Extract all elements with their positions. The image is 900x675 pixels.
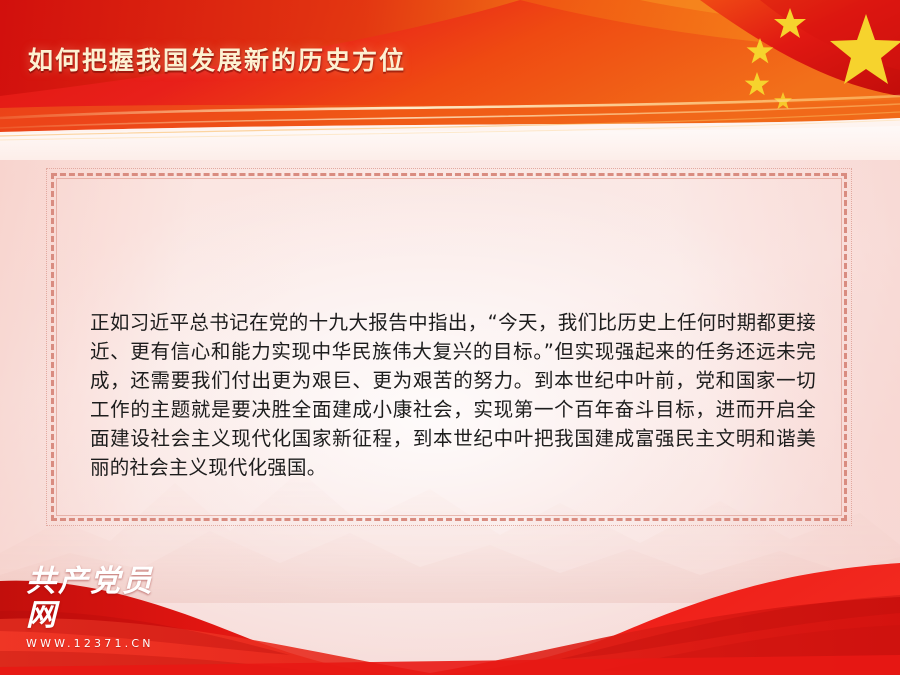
content-panel-border: 正如习近平总书记在党的十九大报告中指出，“今天，我们比历史上任何时期都更接近、更… — [51, 173, 847, 521]
header-banner — [0, 0, 900, 160]
site-logo: 共产党员网 WWW.12371.CN — [26, 565, 176, 651]
page-title: 如何把握我国发展新的历史方位 — [28, 44, 406, 78]
body-paragraph: 正如习近平总书记在党的十九大报告中指出，“今天，我们比历史上任何时期都更接近、更… — [90, 308, 816, 482]
site-logo-name: 共产党员网 — [26, 565, 176, 633]
poster-canvas: 如何把握我国发展新的历史方位 正如习近平总书记在党的十九大报告中指出，“今天，我… — [0, 0, 900, 675]
content-panel: 正如习近平总书记在党的十九大报告中指出，“今天，我们比历史上任何时期都更接近、更… — [46, 168, 852, 526]
site-logo-url: WWW.12371.CN — [26, 637, 176, 651]
